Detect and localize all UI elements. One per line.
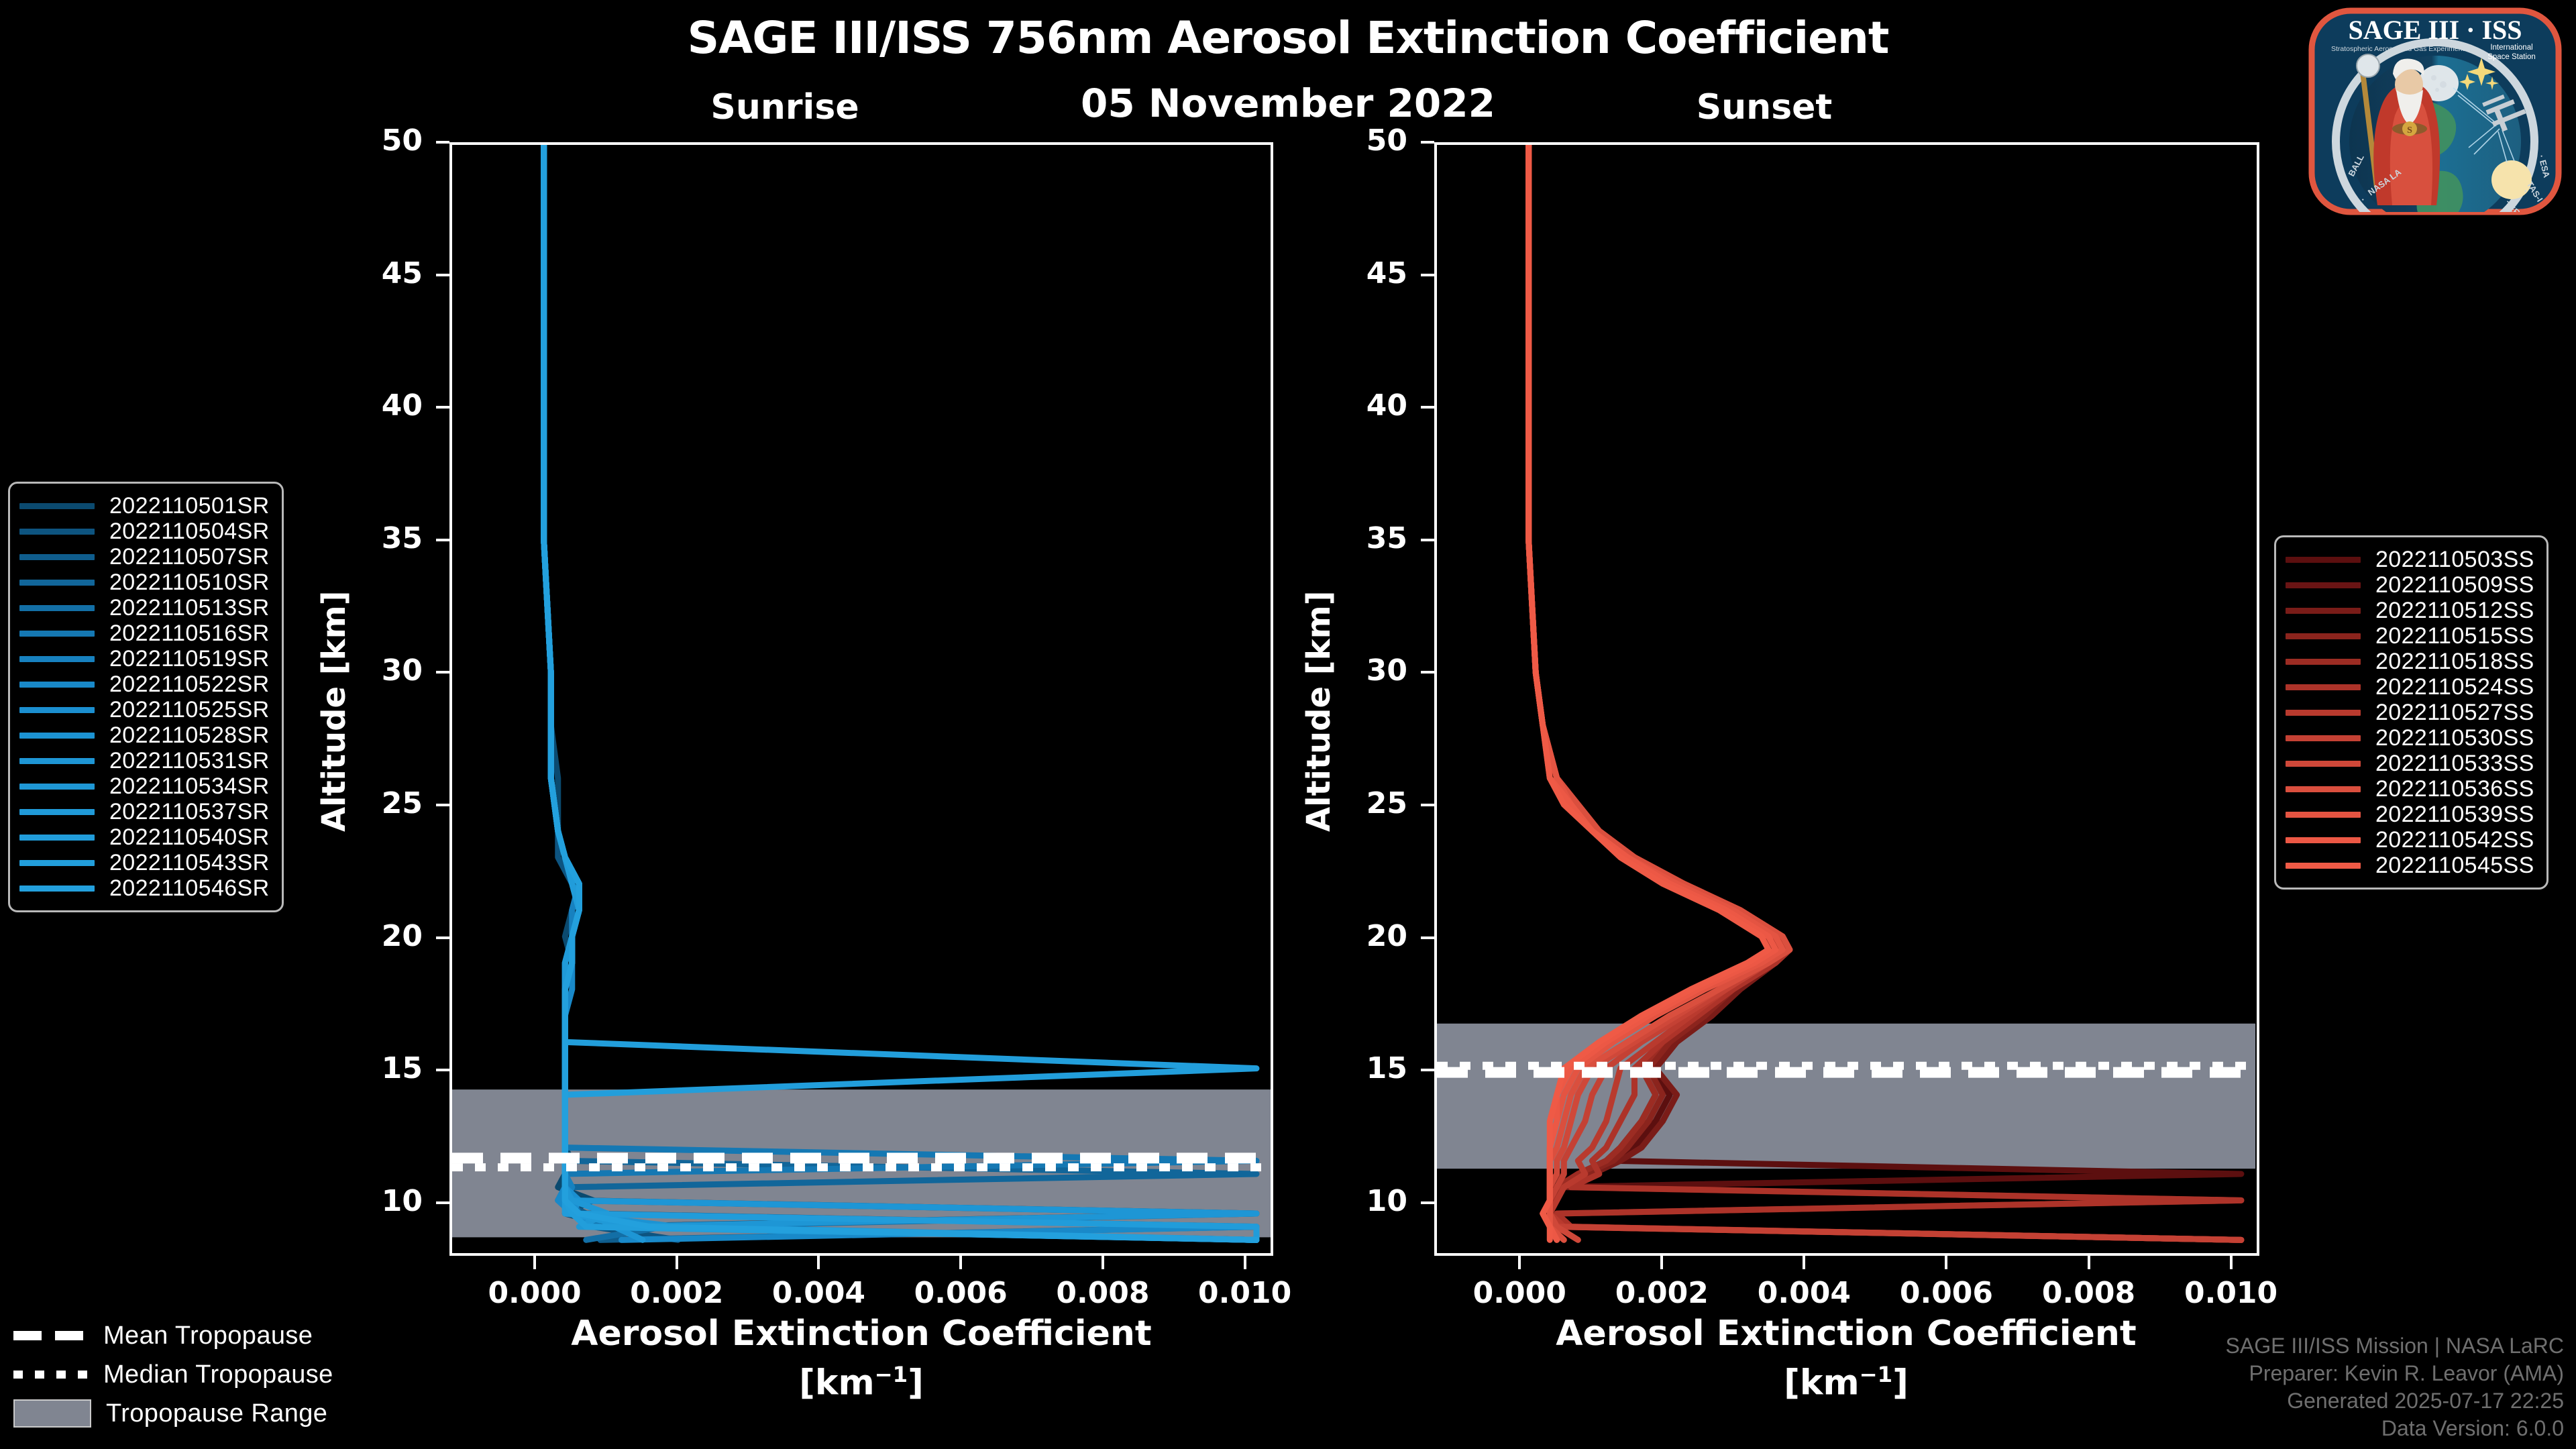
legend-item[interactable]: 2022110503SS xyxy=(2286,547,2534,572)
legend-color-swatch xyxy=(2286,812,2361,818)
legend-label: 2022110509SS xyxy=(2375,572,2534,598)
x-tick-label: 0.002 xyxy=(1588,1276,1735,1310)
legend-item[interactable]: 2022110537SR xyxy=(19,799,270,824)
svg-text:Stratospheric Aerosol and Gas: Stratospheric Aerosol and Gas Experiment… xyxy=(2331,45,2472,53)
credits-block: SAGE III/ISS Mission | NASA LaRC Prepare… xyxy=(2226,1332,2564,1442)
x-tick-label: 0.006 xyxy=(887,1276,1034,1310)
legend-item[interactable]: 2022110540SR xyxy=(19,824,270,850)
x-tick-label: 0.010 xyxy=(2157,1276,2305,1310)
x-tick-mark xyxy=(1518,1256,1521,1269)
legend-label: 2022110524SS xyxy=(2375,674,2534,700)
sunset-plot-clip xyxy=(1437,145,2257,1253)
y-tick-label: 40 xyxy=(1327,388,1407,423)
y-tick-label: 15 xyxy=(342,1051,423,1085)
credits-line-generated: Generated 2025-07-17 22:25 xyxy=(2226,1387,2564,1415)
sunset-legend[interactable]: 2022110503SS2022110509SS2022110512SS2022… xyxy=(2274,535,2548,890)
x-tick-label: 0.006 xyxy=(1872,1276,2020,1310)
series-line xyxy=(544,145,1256,1240)
series-line xyxy=(544,145,1256,1240)
x-tick-label: 0.008 xyxy=(1029,1276,1177,1310)
figure-title: SAGE III/ISS 756nm Aerosol Extinction Co… xyxy=(0,12,2576,64)
legend-item[interactable]: 2022110513SR xyxy=(19,595,270,621)
legend-label: 2022110539SS xyxy=(2375,802,2534,828)
legend-label: 2022110507SR xyxy=(109,544,270,570)
x-tick-mark xyxy=(1102,1256,1104,1269)
legend-item[interactable]: 2022110533SS xyxy=(2286,751,2534,776)
x-tick-label: 0.000 xyxy=(461,1276,608,1310)
legend-label: 2022110513SR xyxy=(109,595,270,621)
y-tick-label: 40 xyxy=(342,388,423,423)
y-tick-mark xyxy=(436,274,449,276)
series-line xyxy=(544,145,1256,1240)
legend-item[interactable]: 2022110534SR xyxy=(19,773,270,799)
legend-item[interactable]: 2022110528SR xyxy=(19,722,270,748)
legend-item[interactable]: 2022110536SS xyxy=(2286,776,2534,802)
legend-color-swatch xyxy=(2286,659,2361,665)
legend-label: 2022110501SR xyxy=(109,493,270,519)
svg-text:International: International xyxy=(2490,44,2532,52)
sunset-x-axis-unit: [km−1] xyxy=(1430,1362,2262,1403)
legend-label: 2022110522SR xyxy=(109,672,270,698)
legend-color-swatch xyxy=(2286,863,2361,869)
y-tick-label: 10 xyxy=(342,1184,423,1218)
legend-label: 2022110534SR xyxy=(109,773,270,800)
legend-label: 2022110512SS xyxy=(2375,598,2534,624)
svg-text:SAGE III · ISS: SAGE III · ISS xyxy=(2348,15,2522,45)
legend-label: 2022110542SS xyxy=(2375,827,2534,853)
x-tick-mark xyxy=(1803,1256,1805,1269)
sunrise-x-axis-unit: [km−1] xyxy=(445,1362,1277,1403)
svg-text:Space Station: Space Station xyxy=(2487,53,2536,61)
legend-label: 2022110536SS xyxy=(2375,776,2534,802)
y-tick-mark xyxy=(1421,141,1434,144)
y-tick-mark xyxy=(1421,406,1434,409)
legend-color-swatch xyxy=(2286,608,2361,614)
legend-color-swatch xyxy=(19,784,95,790)
series-line xyxy=(544,145,1256,1240)
x-tick-label: 0.002 xyxy=(603,1276,751,1310)
credits-line-preparer: Preparer: Kevin R. Leavor (AMA) xyxy=(2226,1360,2564,1387)
series-line xyxy=(544,145,1256,1240)
legend-item[interactable]: 2022110522SR xyxy=(19,672,270,697)
legend-label: 2022110546SR xyxy=(109,875,270,902)
sunrise-x-axis-title: Aerosol Extinction Coefficient xyxy=(445,1313,1277,1354)
legend-label: 2022110537SR xyxy=(109,799,270,825)
y-tick-mark xyxy=(1421,936,1434,939)
legend-label: 2022110515SS xyxy=(2375,623,2534,649)
y-tick-mark xyxy=(436,804,449,806)
legend-label: 2022110531SR xyxy=(109,748,270,774)
legend-label: 2022110525SR xyxy=(109,697,270,723)
y-tick-mark xyxy=(436,1201,449,1204)
legend-item[interactable]: 2022110546SR xyxy=(19,875,270,901)
legend-color-swatch xyxy=(19,835,95,841)
legend-label: 2022110503SS xyxy=(2375,547,2534,573)
sunrise-panel-title: Sunrise xyxy=(651,87,919,127)
series-line xyxy=(544,145,1256,1240)
legend-label: 2022110545SS xyxy=(2375,853,2534,879)
legend-color-swatch xyxy=(19,758,95,764)
legend-item[interactable]: 2022110501SR xyxy=(19,493,270,519)
y-tick-mark xyxy=(436,1069,449,1071)
legend-color-swatch xyxy=(19,580,95,586)
x-tick-label: 0.008 xyxy=(2015,1276,2163,1310)
series-line xyxy=(544,145,1256,1240)
x-tick-mark xyxy=(1945,1256,1947,1269)
legend-label: 2022110527SS xyxy=(2375,700,2534,726)
legend-color-swatch xyxy=(2286,557,2361,563)
legend-color-swatch xyxy=(19,656,95,662)
dotted-line-icon xyxy=(13,1371,89,1379)
sunset-plot-area xyxy=(1434,142,2259,1256)
series-line xyxy=(544,145,1256,1240)
legend-item[interactable]: 2022110539SS xyxy=(2286,802,2534,827)
x-tick-mark xyxy=(533,1256,536,1269)
legend-label: 2022110540SR xyxy=(109,824,270,851)
unit-exponent: −1 xyxy=(1860,1362,1892,1387)
y-tick-mark xyxy=(436,671,449,674)
series-line xyxy=(544,145,1256,1240)
y-tick-label: 45 xyxy=(1327,256,1407,290)
legend-item[interactable]: 2022110519SR xyxy=(19,646,270,672)
y-tick-mark xyxy=(436,141,449,144)
series-line xyxy=(544,145,1256,1240)
legend-label-tropopause-range: Tropopause Range xyxy=(106,1399,327,1428)
legend-item[interactable]: 2022110524SS xyxy=(2286,674,2534,700)
legend-color-swatch xyxy=(19,631,95,637)
legend-item[interactable]: 2022110525SR xyxy=(19,697,270,722)
x-tick-mark xyxy=(1244,1256,1246,1269)
tropopause-legend: Mean Tropopause Median Tropopause Tropop… xyxy=(13,1316,333,1433)
y-tick-mark xyxy=(1421,274,1434,276)
x-tick-mark xyxy=(2088,1256,2090,1269)
legend-item-mean-tropopause: Mean Tropopause xyxy=(13,1316,333,1355)
y-tick-label: 25 xyxy=(342,786,423,820)
legend-item[interactable]: 2022110516SR xyxy=(19,621,270,646)
legend-color-swatch xyxy=(2286,761,2361,767)
x-tick-label: 0.000 xyxy=(1446,1276,1593,1310)
y-tick-label: 30 xyxy=(342,653,423,688)
y-tick-mark xyxy=(1421,1069,1434,1071)
legend-color-swatch xyxy=(19,707,95,713)
x-tick-mark xyxy=(2230,1256,2233,1269)
y-tick-label: 25 xyxy=(1327,786,1407,820)
y-tick-mark xyxy=(436,406,449,409)
sunset-y-axis-title: Altitude [km] xyxy=(1300,590,1338,832)
legend-item[interactable]: 2022110512SS xyxy=(2286,598,2534,623)
legend-color-swatch xyxy=(19,885,95,892)
x-tick-mark xyxy=(959,1256,962,1269)
sunrise-plot-clip xyxy=(452,145,1271,1253)
legend-label: 2022110518SS xyxy=(2375,649,2534,675)
sunrise-plot-area xyxy=(449,142,1273,1256)
x-tick-label: 0.004 xyxy=(745,1276,892,1310)
legend-label: 2022110519SR xyxy=(109,646,270,672)
y-tick-mark xyxy=(436,936,449,939)
legend-label: 2022110533SS xyxy=(2375,751,2534,777)
x-tick-mark xyxy=(1660,1256,1663,1269)
filled-band-icon xyxy=(13,1399,91,1428)
series-line xyxy=(544,145,1256,1240)
legend-item[interactable]: 2022110504SR xyxy=(19,519,270,544)
unit-close: ] xyxy=(1892,1362,1909,1403)
y-tick-label: 10 xyxy=(1327,1184,1407,1218)
unit-base: [km xyxy=(1784,1362,1860,1403)
x-tick-label: 0.004 xyxy=(1730,1276,1878,1310)
legend-item[interactable]: 2022110507SR xyxy=(19,544,270,570)
series-line xyxy=(544,145,1256,1240)
sunset-panel-title: Sunset xyxy=(1630,87,1898,127)
y-tick-label: 35 xyxy=(1327,521,1407,555)
sunrise-legend[interactable]: 2022110501SR2022110504SR2022110507SR2022… xyxy=(8,482,284,912)
legend-label: 2022110504SR xyxy=(109,519,270,545)
legend-color-swatch xyxy=(2286,837,2361,843)
legend-color-swatch xyxy=(2286,786,2361,792)
credits-line-data-version: Data Version: 6.0.0 xyxy=(2226,1415,2564,1442)
legend-color-swatch xyxy=(19,809,95,815)
legend-item[interactable]: 2022110515SS xyxy=(2286,623,2534,649)
legend-label: 2022110530SS xyxy=(2375,725,2534,751)
y-tick-label: 30 xyxy=(1327,653,1407,688)
y-tick-label: 50 xyxy=(1327,123,1407,158)
legend-color-swatch xyxy=(2286,710,2361,716)
x-tick-mark xyxy=(676,1256,678,1269)
credits-line-mission: SAGE III/ISS Mission | NASA LaRC xyxy=(2226,1332,2564,1360)
legend-color-swatch xyxy=(2286,735,2361,741)
legend-item[interactable]: 2022110509SS xyxy=(2286,572,2534,598)
unit-close: ] xyxy=(908,1362,924,1403)
legend-item[interactable]: 2022110518SS xyxy=(2286,649,2534,674)
y-tick-mark xyxy=(1421,1201,1434,1204)
y-tick-label: 20 xyxy=(1327,919,1407,953)
legend-color-swatch xyxy=(2286,684,2361,690)
legend-color-swatch xyxy=(19,682,95,688)
legend-label-median-tropopause: Median Tropopause xyxy=(103,1360,333,1389)
y-tick-label: 20 xyxy=(342,919,423,953)
y-tick-label: 15 xyxy=(1327,1051,1407,1085)
dashed-line-icon xyxy=(13,1331,89,1340)
legend-item-median-tropopause: Median Tropopause xyxy=(13,1355,333,1394)
sage-iii-iss-logo: S BALL · NASA LA TER · TAS-I · ESA SAGE … xyxy=(2302,4,2568,217)
x-tick-mark xyxy=(817,1256,820,1269)
legend-color-swatch xyxy=(19,529,95,535)
legend-item[interactable]: 2022110542SS xyxy=(2286,827,2534,853)
svg-text:S: S xyxy=(2407,125,2412,136)
legend-item[interactable]: 2022110527SS xyxy=(2286,700,2534,725)
y-tick-label: 45 xyxy=(342,256,423,290)
legend-item[interactable]: 2022110543SR xyxy=(19,850,270,875)
sunrise-y-axis-title: Altitude [km] xyxy=(315,590,353,832)
unit-exponent: −1 xyxy=(875,1362,908,1387)
y-tick-label: 50 xyxy=(342,123,423,158)
legend-item[interactable]: 2022110530SS xyxy=(2286,725,2534,751)
series-line xyxy=(544,145,1256,1240)
legend-color-swatch xyxy=(19,503,95,509)
sunset-x-axis-title: Aerosol Extinction Coefficient xyxy=(1430,1313,2262,1354)
unit-base: [km xyxy=(799,1362,875,1403)
legend-color-swatch xyxy=(2286,633,2361,639)
legend-color-swatch xyxy=(19,860,95,866)
y-tick-mark xyxy=(1421,804,1434,806)
legend-color-swatch xyxy=(19,554,95,560)
x-tick-label: 0.010 xyxy=(1171,1276,1319,1310)
legend-color-swatch xyxy=(2286,582,2361,588)
series-line xyxy=(544,145,1256,1240)
legend-color-swatch xyxy=(19,605,95,611)
legend-label: 2022110516SR xyxy=(109,621,270,647)
y-tick-mark xyxy=(1421,671,1434,674)
legend-label-mean-tropopause: Mean Tropopause xyxy=(103,1322,313,1350)
legend-label: 2022110510SR xyxy=(109,570,270,596)
figure-subtitle: 05 November 2022 xyxy=(0,80,2576,126)
figure-root: SAGE III/ISS 756nm Aerosol Extinction Co… xyxy=(0,0,2576,1449)
y-tick-label: 35 xyxy=(342,521,423,555)
legend-item[interactable]: 2022110545SS xyxy=(2286,853,2534,878)
y-tick-mark xyxy=(436,539,449,541)
legend-item[interactable]: 2022110510SR xyxy=(19,570,270,595)
legend-color-swatch xyxy=(19,733,95,739)
legend-label: 2022110528SR xyxy=(109,722,270,749)
series-line xyxy=(544,145,1256,1240)
series-line xyxy=(544,145,1256,1240)
legend-label: 2022110543SR xyxy=(109,850,270,876)
legend-item[interactable]: 2022110531SR xyxy=(19,748,270,773)
legend-item-tropopause-range: Tropopause Range xyxy=(13,1394,333,1433)
y-tick-mark xyxy=(1421,539,1434,541)
